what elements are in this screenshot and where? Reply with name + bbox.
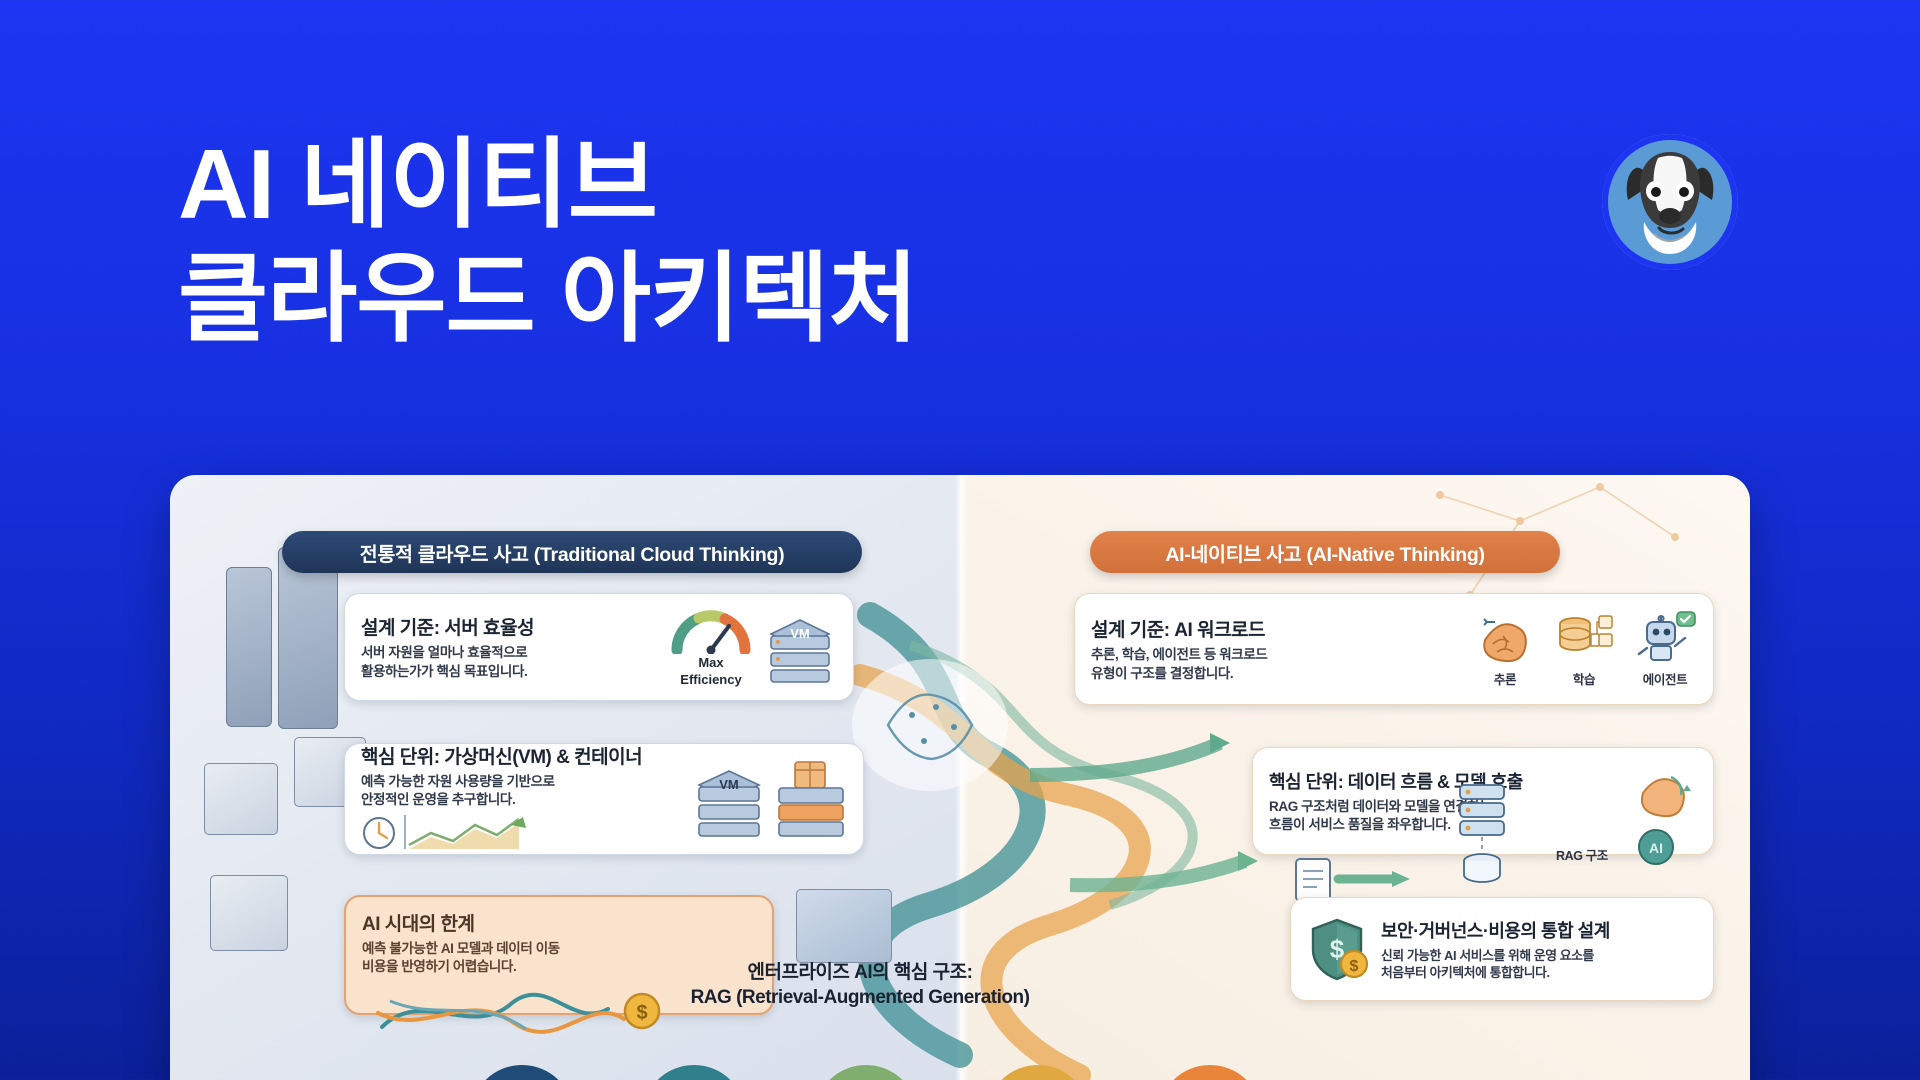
card-desc-line-2: 처음부터 아키텍처에 통합합니다. bbox=[1381, 964, 1697, 981]
workload-agent: 에이전트 bbox=[1633, 610, 1697, 688]
ai-native-header-label: AI-네이티브 사고 (AI-Native Thinking) bbox=[1165, 538, 1484, 567]
container-stack-icon bbox=[775, 758, 847, 840]
caption-line-2: RAG (Retrieval-Augmented Generation) bbox=[630, 985, 1090, 1010]
avatar bbox=[1602, 134, 1738, 270]
center-caption: 엔터프라이즈 AI의 핵심 구조: RAG (Retrieval-Augment… bbox=[630, 960, 1090, 1010]
workload-label: 에이전트 bbox=[1643, 669, 1687, 688]
card-text: 핵심 단위: 가상머신(VM) & 컨테이너 예측 가능한 자원 사용량을 기반… bbox=[361, 742, 681, 857]
card-title: 핵심 단위: 데이터 흐름 & 모델 호출 bbox=[1269, 768, 1619, 794]
gauge-label-line-2: Efficiency bbox=[680, 673, 741, 688]
vm-stack-icon: VM bbox=[763, 610, 837, 684]
card-desc-line-1: 신뢰 가능한 AI 서비스를 위해 운영 요소를 bbox=[1381, 947, 1697, 964]
card-title: 핵심 단위: 가상머신(VM) & 컨테이너 bbox=[361, 742, 681, 769]
rag-pipeline-rings bbox=[470, 1065, 1262, 1080]
pipeline-ring bbox=[1158, 1065, 1262, 1080]
gauge-icon bbox=[669, 606, 753, 654]
robot-icon bbox=[1633, 610, 1697, 666]
caption-line-1: 엔터프라이즈 AI의 핵심 구조: bbox=[630, 960, 1090, 985]
vm-badge-text: VM bbox=[719, 777, 739, 792]
card-desc-line-1: 서버 자원을 얼마나 효율적으로 bbox=[361, 644, 657, 662]
database-icon bbox=[1555, 610, 1613, 666]
ai-badge-text: AI bbox=[1649, 840, 1663, 856]
card-artwork: 추론 학습 bbox=[1475, 610, 1697, 688]
card-desc-line-1: RAG 구조처럼 데이터와 모델을 연결하는 bbox=[1269, 798, 1619, 816]
traditional-header-label: 전통적 클라우드 사고 (Traditional Cloud Thinking) bbox=[360, 538, 785, 567]
card-text: 핵심 단위: 데이터 흐름 & 모델 호출 RAG 구조처럼 데이터와 모델을 … bbox=[1269, 768, 1619, 835]
card-desc-line-2: 안정적인 운영을 추구합니다. bbox=[361, 791, 681, 809]
infographic-panel: 전통적 클라우드 사고 (Traditional Cloud Thinking)… bbox=[170, 475, 1750, 1080]
rag-structure-label: RAG 구조 bbox=[1556, 845, 1608, 864]
server-rack-icon bbox=[226, 567, 272, 727]
card-artwork: Max Efficiency VM bbox=[669, 606, 837, 687]
workload-label: 추론 bbox=[1494, 669, 1516, 688]
card-design-criteria-ai-workload: 설계 기준: AI 워크로드 추론, 학습, 에이전트 등 워크로드 유형이 구… bbox=[1074, 593, 1714, 705]
card-desc-line-2: 활용하는가가 핵심 목표입니다. bbox=[361, 663, 657, 681]
cube-icon bbox=[210, 875, 288, 951]
card-title: AI 시대의 한계 bbox=[362, 909, 756, 936]
card-design-criteria-server-efficiency: 설계 기준: 서버 효율성 서버 자원을 얼마나 효율적으로 활용하는가가 핵심… bbox=[344, 593, 854, 701]
title-line-2: 클라우드 아키텍처 bbox=[178, 242, 1238, 356]
gauge-widget: Max Efficiency bbox=[669, 606, 753, 687]
title-line-1: AI 네이티브 bbox=[178, 128, 1238, 242]
card-title: 설계 기준: 서버 효율성 bbox=[361, 613, 657, 640]
card-desc-line-2: 흐름이 서비스 품질을 좌우합니다. bbox=[1269, 816, 1619, 834]
server-rack-icon bbox=[278, 547, 338, 729]
card-desc-line-1: 예측 불가능한 AI 모델과 데이터 이동 bbox=[362, 940, 756, 958]
shield-dollar-icon: $ $ bbox=[1307, 916, 1369, 982]
page-title: AI 네이티브 클라우드 아키텍처 bbox=[178, 128, 1238, 355]
vm-badge-text: VM bbox=[790, 626, 810, 641]
ai-badge-icon: AI bbox=[1634, 825, 1678, 869]
cube-icon bbox=[204, 763, 278, 835]
card-core-unit-vm-container: 핵심 단위: 가상머신(VM) & 컨테이너 예측 가능한 자원 사용량을 기반… bbox=[344, 743, 864, 855]
clock-and-trend-chart-icon bbox=[361, 811, 591, 851]
gauge-label-line-1: Max bbox=[698, 656, 723, 671]
coin-dollar-sign: $ bbox=[1350, 958, 1359, 975]
vm-stack-icon: VM bbox=[693, 761, 765, 837]
card-desc-line-1: 추론, 학습, 에이전트 등 워크로드 bbox=[1091, 646, 1463, 664]
card-title: 설계 기준: AI 워크로드 bbox=[1091, 615, 1463, 642]
pipeline-ring bbox=[642, 1065, 746, 1080]
card-security-governance-cost: $ $ 보안·거버넌스·비용의 통합 설계 신뢰 가능한 AI 서비스를 위해 … bbox=[1290, 897, 1714, 1001]
card-text: 설계 기준: 서버 효율성 서버 자원을 얼마나 효율적으로 활용하는가가 핵심… bbox=[361, 613, 657, 681]
pipeline-ring bbox=[470, 1065, 574, 1080]
dog-icon bbox=[1602, 134, 1738, 270]
pipeline-ring bbox=[814, 1065, 918, 1080]
brain-icon bbox=[1475, 610, 1535, 666]
card-text: 보안·거버넌스·비용의 통합 설계 신뢰 가능한 AI 서비스를 위해 운영 요… bbox=[1381, 917, 1697, 982]
card-title: 보안·거버넌스·비용의 통합 설계 bbox=[1381, 917, 1697, 943]
pipeline-ring bbox=[986, 1065, 1090, 1080]
db-stack-icon bbox=[1450, 775, 1520, 885]
card-text: 설계 기준: AI 워크로드 추론, 학습, 에이전트 등 워크로드 유형이 구… bbox=[1091, 615, 1463, 683]
card-artwork: VM bbox=[693, 758, 847, 840]
workload-training: 학습 bbox=[1555, 610, 1613, 688]
traditional-header-pill: 전통적 클라우드 사고 (Traditional Cloud Thinking) bbox=[282, 531, 862, 573]
card-desc-line-2: 유형이 구조를 결정합니다. bbox=[1091, 665, 1463, 683]
workload-inference: 추론 bbox=[1475, 610, 1535, 688]
ai-native-header-pill: AI-네이티브 사고 (AI-Native Thinking) bbox=[1090, 531, 1560, 573]
device-icon bbox=[796, 889, 892, 963]
workload-label: 학습 bbox=[1573, 669, 1595, 688]
card-desc-line-1: 예측 가능한 자원 사용량을 기반으로 bbox=[361, 773, 681, 791]
